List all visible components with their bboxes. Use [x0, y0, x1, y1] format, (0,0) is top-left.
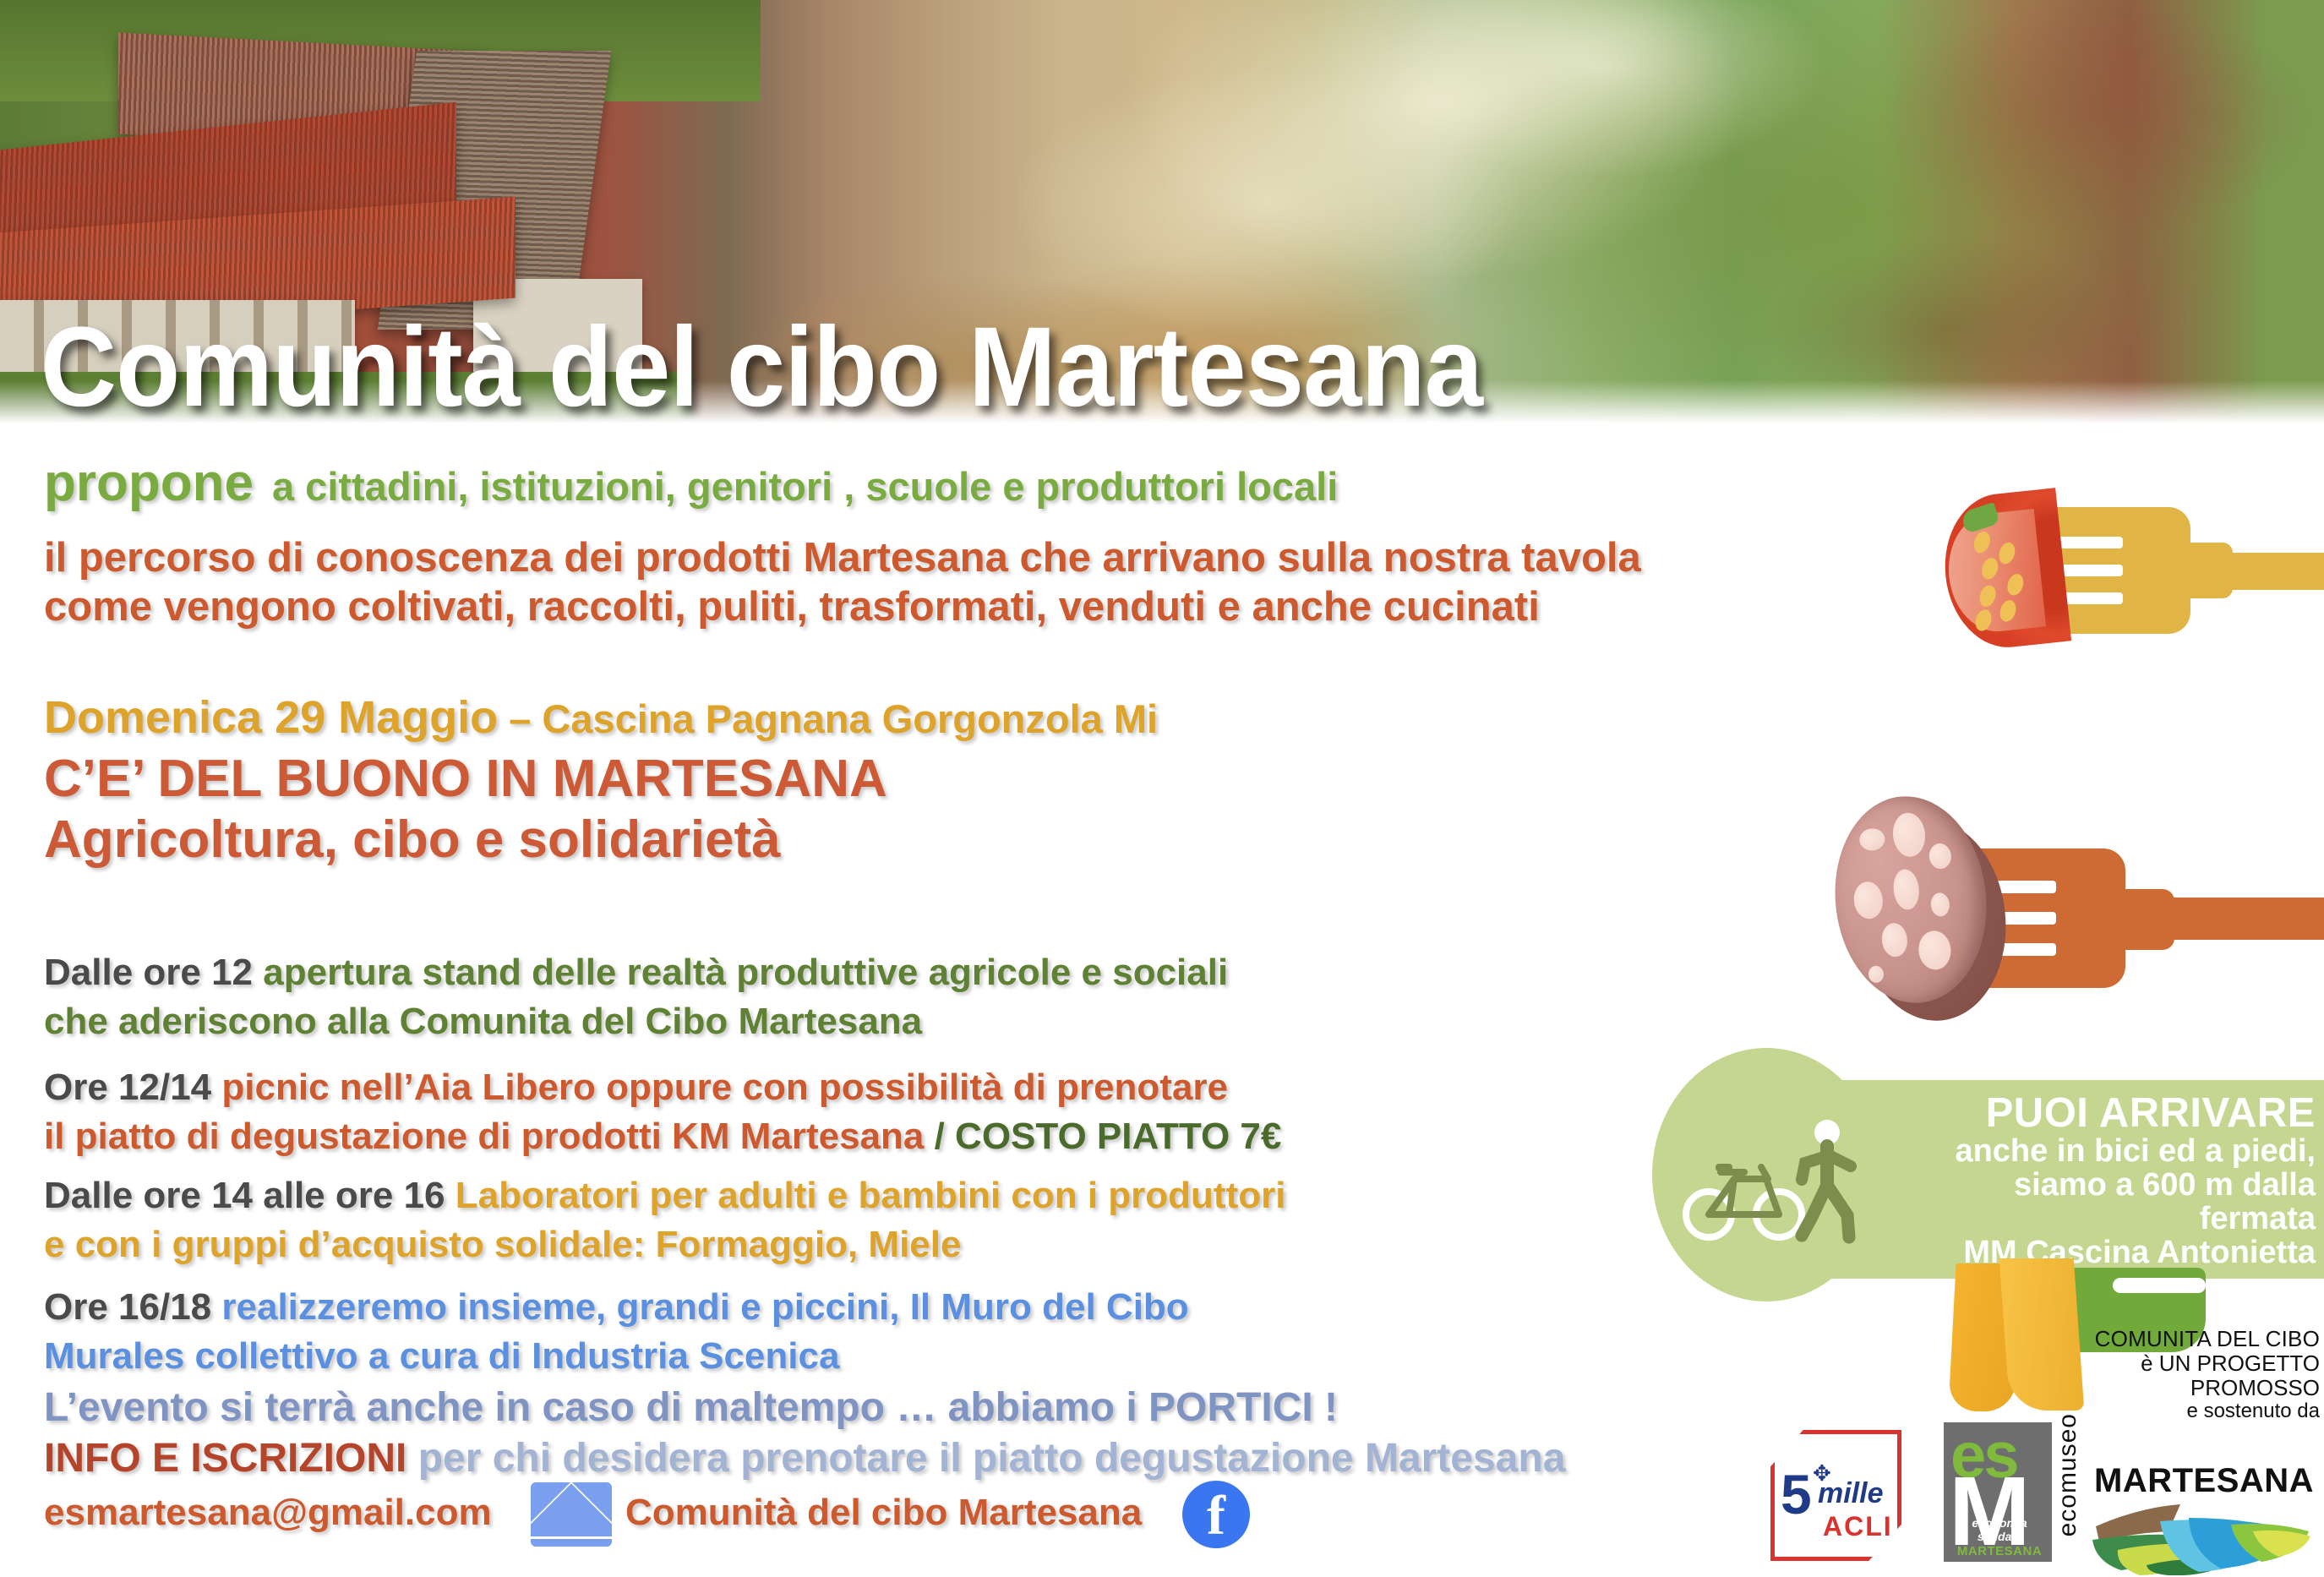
travel-badge-line-1: anche in bici ed a piedi, [1893, 1135, 2316, 1169]
program-body-2: picnic nell’Aia Libero oppure con possib… [221, 1067, 1228, 1108]
program-hour-1: Dalle ore 12 [44, 952, 253, 993]
facebook-page-name[interactable]: Comunità del cibo Martesana [625, 1494, 1142, 1532]
propone-word: propone [44, 454, 254, 512]
logo-ecomuseo-vertical: ecomuseo [2054, 1413, 2082, 1536]
logo-ecomuseo-name: MARTESANA [2094, 1462, 2314, 1500]
logo-es-tagline: economia solidale [1949, 1516, 2050, 1543]
travel-badge-text: PUOI ARRIVARE anche in bici ed a piedi, … [1893, 1092, 2316, 1270]
program-body-4: realizzeremo insieme, grandi e piccini, … [221, 1286, 1188, 1328]
pedestrian-icon [1790, 1117, 1866, 1244]
logo-5mille-mille: mille [1818, 1477, 1883, 1510]
logo-5mille-five: 5 [1781, 1462, 1812, 1526]
promoters-text: COMUNITA DEL CIBO è UN PROGETTO PROMOSSO… [2041, 1327, 2320, 1423]
program-hour-4: Ore 16/18 [44, 1286, 211, 1328]
info-line: INFO E ISCRIZIONI per chi desidera preno… [44, 1438, 1565, 1480]
program-body-2-cont: il piatto di degustazione di prodotti KM… [44, 1117, 1281, 1156]
event-location: Cascina Pagnana Gorgonzola Mi [542, 696, 1158, 741]
facebook-glyph: f [1182, 1484, 1250, 1548]
event-headline: C’E’ DEL BUONO IN MARTESANA [44, 752, 887, 805]
program-body-1: apertura stand delle realtà produttive a… [263, 952, 1228, 993]
intro-line-1: il percorso di conoscenza dei prodotti M… [44, 537, 1641, 580]
contact-email[interactable]: esmartesana@gmail.com [44, 1494, 492, 1532]
program-item-3: Dalle ore 14 alle ore 16 Laboratori per … [44, 1176, 1285, 1215]
program-body-2-line: il piatto di degustazione di prodotti KM… [44, 1116, 924, 1157]
program-item-1: Dalle ore 12 apertura stand delle realtà… [44, 953, 1228, 992]
promoters-line-2: è UN PROGETTO PROMOSSO [2041, 1351, 2320, 1400]
program-body-3: Laboratori per adulti e bambini con i pr… [456, 1175, 1286, 1216]
fork-neck [2115, 889, 2174, 950]
travel-badge-title: PUOI ARRIVARE [1893, 1092, 2316, 1135]
event-date-separator: – [498, 696, 542, 741]
envelope-icon[interactable] [531, 1482, 612, 1547]
logo-5mille-acli: ACLI [1823, 1511, 1893, 1542]
program-hour-2: Ore 12/14 [44, 1067, 211, 1108]
promoters-line-1: COMUNITA DEL CIBO [2041, 1327, 2320, 1351]
poster-root: Comunità del cibo Martesana proponea cit… [0, 0, 2324, 1577]
propone-audience: a cittadini, istituzioni, genitori , scu… [272, 464, 1338, 509]
logo-5xmille-acli: 5 ✥ mille ACLI [1770, 1430, 1901, 1561]
program-cost-2: / COSTO PIATTO 7€ [924, 1116, 1281, 1157]
program-item-4: Ore 16/18 realizzeremo insieme, grandi e… [44, 1288, 1189, 1327]
program-item-2: Ore 12/14 picnic nell’Aia Libero oppure … [44, 1068, 1228, 1107]
event-date-location: Domenica 29 Maggio – Cascina Pagnana Gor… [44, 695, 1158, 741]
event-date: Domenica 29 Maggio [44, 692, 498, 743]
fork-handle [2224, 553, 2324, 590]
promoters-line-3: e sostenuto da [2041, 1400, 2320, 1423]
weather-note: L’evento si terrà anche in caso di malte… [44, 1388, 1338, 1429]
program-body-1-cont: che aderiscono alla Comunita del Cibo Ma… [44, 1002, 922, 1041]
intro-line-2: come vengono coltivati, raccolti, puliti… [44, 587, 1540, 629]
logo-economia-solidale: es M economia solidale MARTESANA [1944, 1422, 2052, 1562]
info-label: INFO E ISCRIZIONI [44, 1436, 406, 1481]
intro-propone-line: proponea cittadini, istituzioni, genitor… [44, 456, 1338, 510]
tomato-slice-icon [1938, 488, 2071, 653]
page-title: Comunità del cibo Martesana [41, 311, 1482, 424]
logo-es-region: MARTESANA [1949, 1544, 2050, 1558]
facebook-icon[interactable]: f [1182, 1481, 1250, 1548]
event-subhead: Agricoltura, cibo e solidarietà [44, 813, 781, 866]
fork-handle [2168, 898, 2324, 940]
travel-badge-line-2: siamo a 600 m dalla fermata [1893, 1169, 2316, 1236]
program-body-3-cont: e con i gruppi d’acquisto solidale: Form… [44, 1225, 961, 1264]
program-body-4-cont: Murales collettivo a cura di Industria S… [44, 1337, 839, 1376]
ecomuseo-leaf-mark-icon [2087, 1503, 2316, 1575]
program-hour-3: Dalle ore 14 alle ore 16 [44, 1175, 445, 1216]
fork-slit-1 [2113, 1278, 2206, 1293]
info-rest: per chi desidera prenotare il piatto deg… [406, 1436, 1565, 1481]
